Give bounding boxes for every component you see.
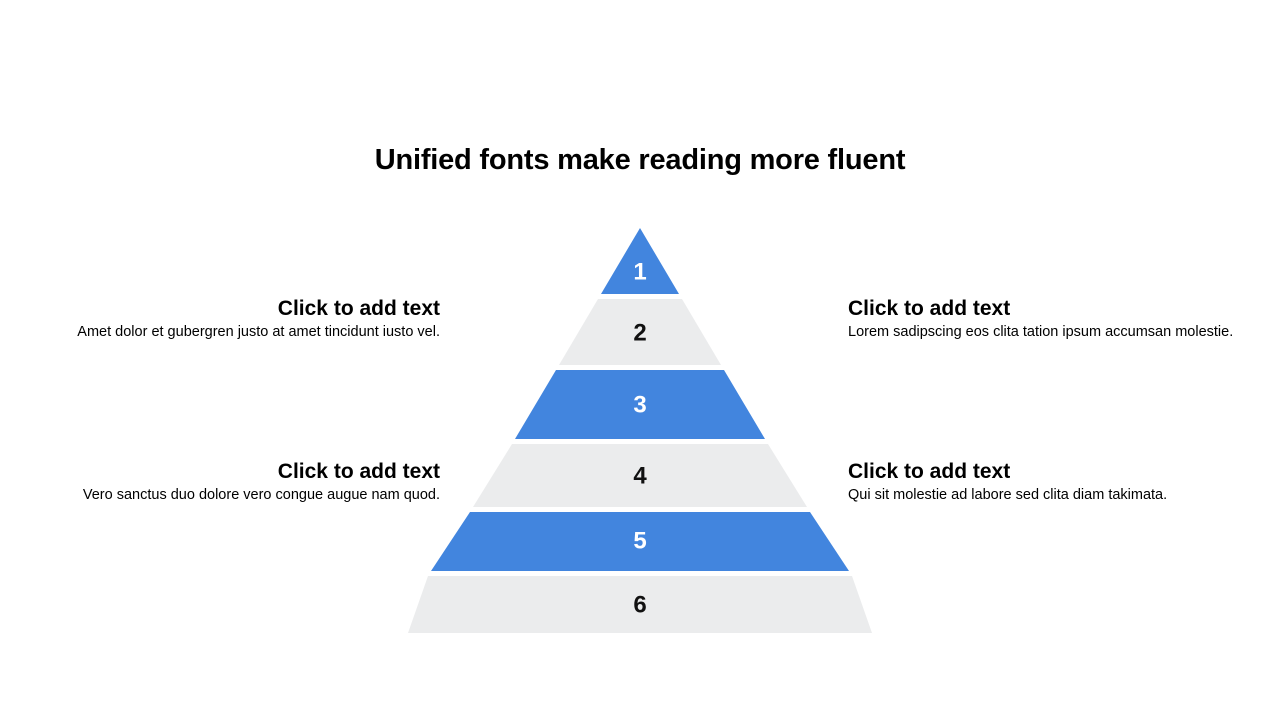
pyramid-svg: 1 2 3 4 5 6 — [398, 220, 882, 640]
callout-left-top-heading[interactable]: Click to add text — [60, 296, 440, 321]
pyramid-level-2-number: 2 — [633, 319, 646, 346]
callout-right-top-body[interactable]: Lorem sadipscing eos clita tation ipsum … — [848, 321, 1238, 343]
pyramid-level-1[interactable]: 1 — [601, 228, 679, 294]
pyramid-level-3[interactable]: 3 — [515, 370, 765, 439]
pyramid-level-4-number: 4 — [633, 462, 647, 489]
pyramid-level-3-number: 3 — [633, 391, 646, 418]
pyramid-level-6[interactable]: 6 — [408, 576, 872, 633]
callout-left-bottom-heading[interactable]: Click to add text — [60, 459, 440, 484]
pyramid-level-5-number: 5 — [633, 527, 646, 554]
callout-right-bottom-heading[interactable]: Click to add text — [848, 459, 1238, 484]
pyramid-level-2[interactable]: 2 — [559, 299, 721, 365]
pyramid-level-6-number: 6 — [633, 591, 646, 618]
pyramid-diagram: 1 2 3 4 5 6 — [398, 220, 882, 640]
callout-right-bottom-body[interactable]: Qui sit molestie ad labore sed clita dia… — [848, 484, 1238, 506]
pyramid-level-1-number: 1 — [633, 258, 646, 285]
pyramid-level-5[interactable]: 5 — [431, 512, 849, 571]
callout-right-top-heading[interactable]: Click to add text — [848, 296, 1238, 321]
callout-left-bottom[interactable]: Click to add text Vero sanctus duo dolor… — [60, 459, 440, 506]
callout-left-bottom-body[interactable]: Vero sanctus duo dolore vero congue augu… — [60, 484, 440, 506]
callout-right-top[interactable]: Click to add text Lorem sadipscing eos c… — [848, 296, 1238, 343]
pyramid-level-4[interactable]: 4 — [473, 444, 807, 507]
callout-left-top-body[interactable]: Amet dolor et gubergren justo at amet ti… — [60, 321, 440, 343]
callout-right-bottom[interactable]: Click to add text Qui sit molestie ad la… — [848, 459, 1238, 506]
page-title: Unified fonts make reading more fluent — [0, 142, 1280, 178]
callout-left-top[interactable]: Click to add text Amet dolor et gubergre… — [60, 296, 440, 343]
